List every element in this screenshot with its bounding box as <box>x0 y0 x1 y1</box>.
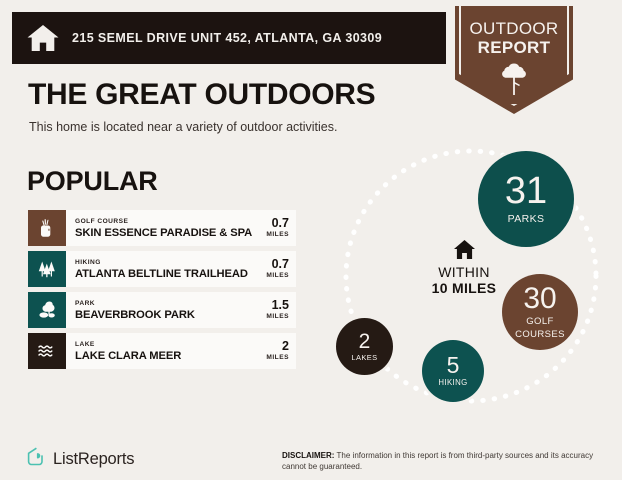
distance-value: 2 <box>266 340 289 353</box>
section-title-popular: POPULAR <box>27 166 158 197</box>
list-item-name: LAKE CLARA MEER <box>75 349 181 363</box>
list-item-category: GOLF COURSE <box>75 217 252 226</box>
distance-unit: MILES <box>266 271 289 280</box>
outdoor-report-page: 215 SEMEL DRIVE UNIT 452, ATLANTA, GA 30… <box>0 0 622 480</box>
list-item-category: LAKE <box>75 340 181 349</box>
listreports-logo[interactable]: ListReports <box>26 446 134 472</box>
home-icon <box>412 239 516 260</box>
lakes-label: LAKES <box>351 354 377 362</box>
parks-count: 31 <box>505 172 547 210</box>
list-item[interactable]: GOLF COURSE SKIN ESSENCE PARADISE & SPA … <box>28 210 296 246</box>
list-item-body: LAKE LAKE CLARA MEER 2 MILES <box>66 333 296 369</box>
property-address: 215 SEMEL DRIVE UNIT 452, ATLANTA, GA 30… <box>72 31 382 45</box>
within-line1: WITHIN <box>412 264 516 280</box>
list-item-text: LAKE LAKE CLARA MEER <box>75 340 181 363</box>
golf-label-line2: COURSES <box>515 330 565 340</box>
tree-icon <box>501 62 527 96</box>
hiking-label: HIKING <box>438 379 467 387</box>
distance-unit: MILES <box>266 230 289 239</box>
listreports-brand-text: ListReports <box>53 450 134 469</box>
list-item-category: HIKING <box>75 258 248 267</box>
golf-label-line1: GOLF <box>526 317 553 327</box>
stat-bubble-parks[interactable]: 31 PARKS <box>478 151 574 247</box>
header-bar: 215 SEMEL DRIVE UNIT 452, ATLANTA, GA 30… <box>12 12 446 64</box>
outdoor-report-badge: OUTDOOR REPORT <box>455 6 573 114</box>
list-item[interactable]: HIKING ATLANTA BELTLINE TRAILHEAD 0.7 MI… <box>28 251 296 287</box>
distance-unit: MILES <box>266 353 289 362</box>
list-item-name: ATLANTA BELTLINE TRAILHEAD <box>75 267 248 281</box>
list-item-category: PARK <box>75 299 195 308</box>
park-tree-icon <box>28 292 66 328</box>
list-item-text: GOLF COURSE SKIN ESSENCE PARADISE & SPA <box>75 217 252 240</box>
list-item-name: SKIN ESSENCE PARADISE & SPA <box>75 226 252 240</box>
pine-trees-icon <box>28 251 66 287</box>
list-item[interactable]: LAKE LAKE CLARA MEER 2 MILES <box>28 333 296 369</box>
list-item[interactable]: PARK BEAVERBROOK PARK 1.5 MILES <box>28 292 296 328</box>
popular-list: GOLF COURSE SKIN ESSENCE PARADISE & SPA … <box>28 210 296 374</box>
page-subtitle: This home is located near a variety of o… <box>29 120 337 134</box>
badge-line2: REPORT <box>470 38 559 57</box>
disclaimer: DISCLAIMER: The information in this repo… <box>282 450 612 472</box>
list-item-distance: 2 MILES <box>262 340 289 362</box>
water-waves-icon <box>28 333 66 369</box>
list-item-name: BEAVERBROOK PARK <box>75 308 195 322</box>
list-item-body: PARK BEAVERBROOK PARK 1.5 MILES <box>66 292 296 328</box>
parks-label: PARKS <box>508 214 545 225</box>
list-item-text: HIKING ATLANTA BELTLINE TRAILHEAD <box>75 258 248 281</box>
list-item-body: GOLF COURSE SKIN ESSENCE PARADISE & SPA … <box>66 210 296 246</box>
golf-bag-icon <box>28 210 66 246</box>
lakes-count: 2 <box>359 331 371 352</box>
stat-bubble-lakes[interactable]: 2 LAKES <box>336 318 393 375</box>
list-item-text: PARK BEAVERBROOK PARK <box>75 299 195 322</box>
list-item-body: HIKING ATLANTA BELTLINE TRAILHEAD 0.7 MI… <box>66 251 296 287</box>
disclaimer-label: DISCLAIMER: <box>282 451 334 460</box>
badge-line1: OUTDOOR <box>470 19 559 38</box>
within-line2: 10 MILES <box>412 280 516 296</box>
within-radius-label: WITHIN 10 MILES <box>412 239 516 296</box>
distance-unit: MILES <box>266 312 289 321</box>
list-item-distance: 0.7 MILES <box>262 258 289 280</box>
page-title: THE GREAT OUTDOORS <box>28 78 375 112</box>
badge-text: OUTDOOR REPORT <box>470 19 559 57</box>
hiking-count: 5 <box>447 354 460 377</box>
distance-value: 0.7 <box>266 217 289 230</box>
golf-count: 30 <box>523 284 556 314</box>
within-10-miles-chart: 31 PARKS 30 GOLF COURSES 2 LAKES 5 HIKIN… <box>324 146 614 416</box>
distance-value: 1.5 <box>266 299 289 312</box>
distance-value: 0.7 <box>266 258 289 271</box>
home-icon <box>26 23 60 53</box>
list-item-distance: 0.7 MILES <box>262 217 289 239</box>
list-item-distance: 1.5 MILES <box>262 299 289 321</box>
listreports-house-tag-icon <box>26 446 47 472</box>
stat-bubble-hiking[interactable]: 5 HIKING <box>422 340 484 402</box>
